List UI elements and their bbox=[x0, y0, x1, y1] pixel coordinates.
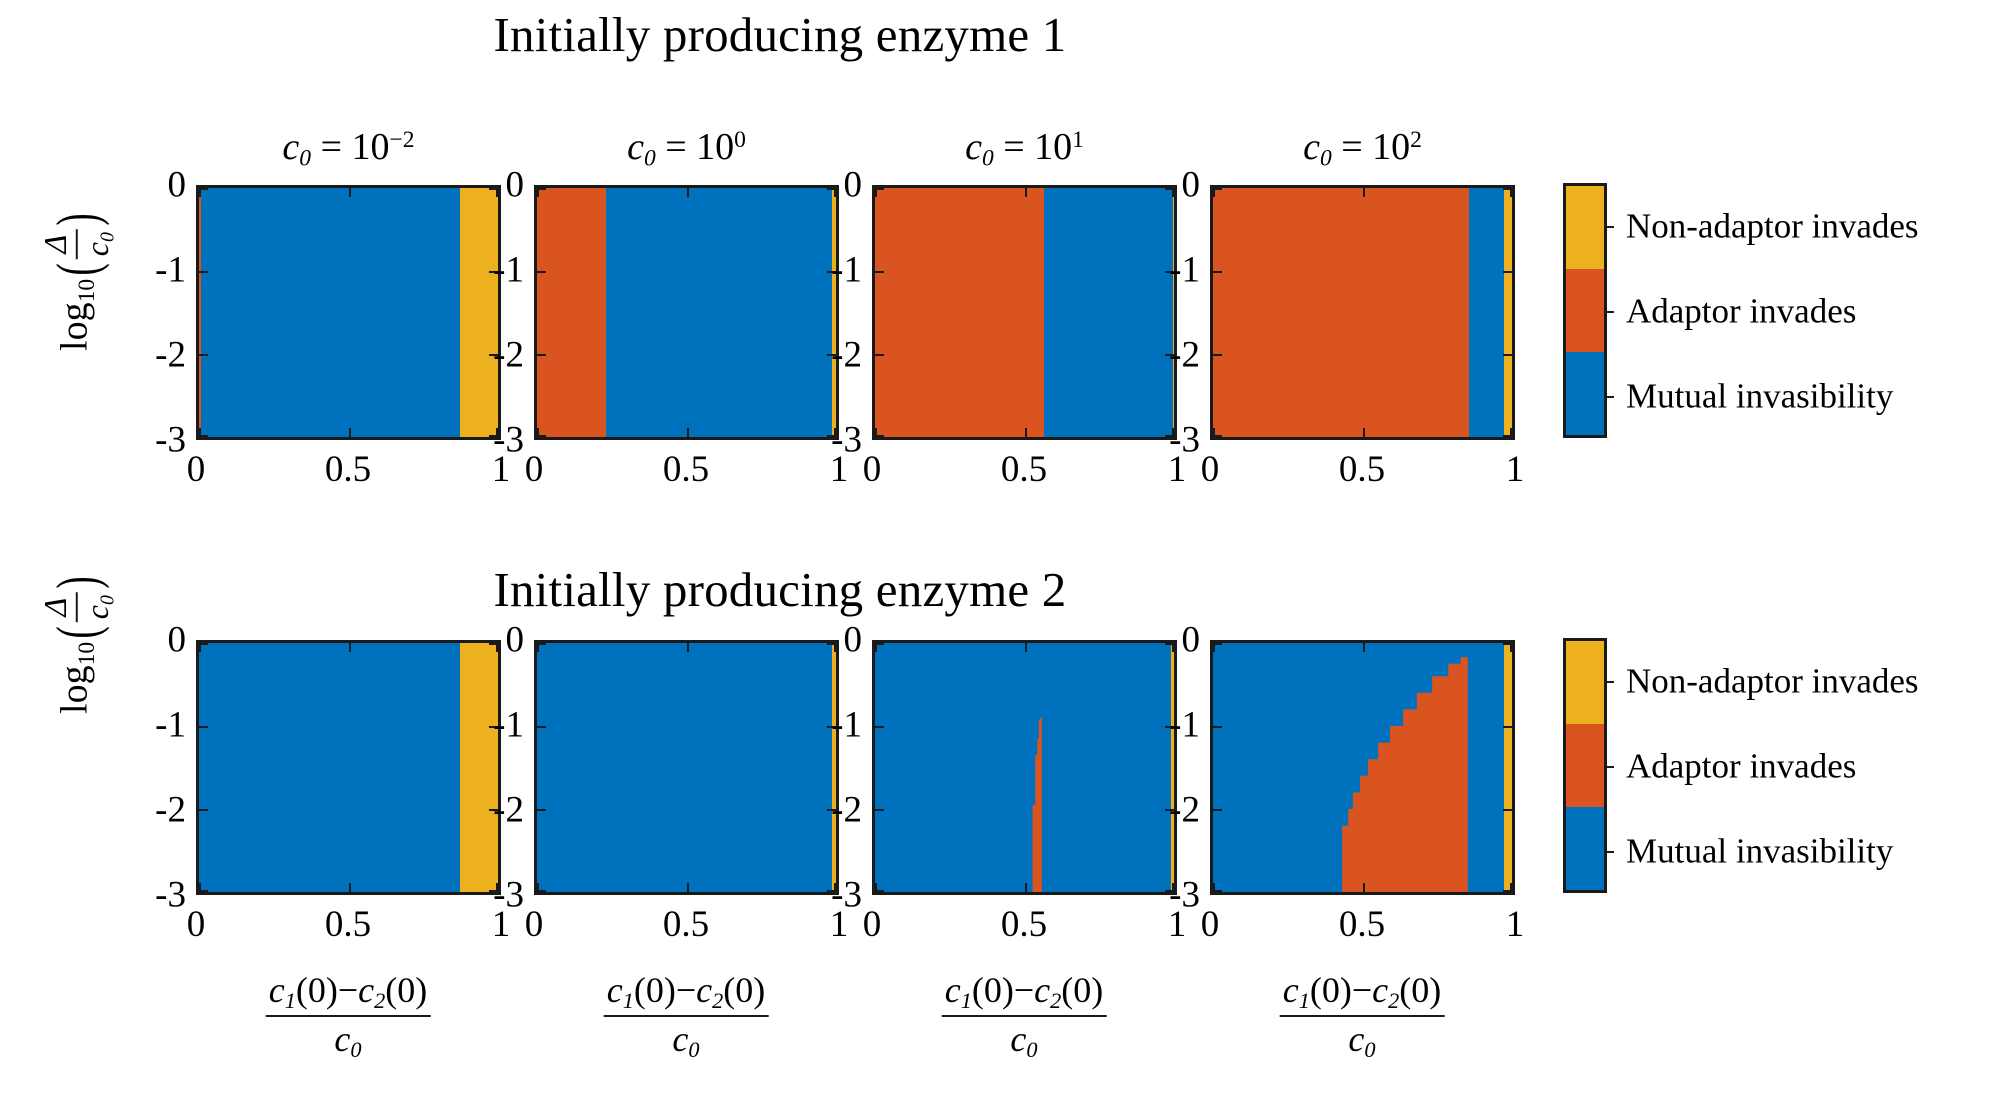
x-tick-label-0: 0 bbox=[1201, 451, 1220, 488]
xlabel-c2-sub: 2 bbox=[1050, 988, 1061, 1013]
y-axis-label-log: log bbox=[54, 302, 96, 351]
panel-title-c: c bbox=[627, 126, 644, 168]
xlabel-zero: 0 bbox=[735, 970, 753, 1010]
x-axis-label-col3: c1(0)−c2(0)c0 bbox=[942, 970, 1107, 1062]
region-non-adaptor-invades bbox=[460, 643, 498, 892]
x-tick-label-1: 1 bbox=[1506, 451, 1525, 488]
panel-row2-col1[interactable]: 0 -1 -2 -3 0 0.5 1 c1(0)−c2(0)c0 bbox=[196, 640, 501, 895]
xlabel-paren-open: ( bbox=[723, 970, 735, 1010]
panel-row1-col2[interactable]: c0 = 100 0 -1 -2 -3 0 0.5 1 bbox=[534, 185, 839, 440]
legend-label-adaptor: Adaptor invades bbox=[1626, 749, 1856, 784]
colorbar-segment-non-adaptor bbox=[1566, 641, 1604, 724]
y-tick-label-0: 0 bbox=[144, 167, 186, 204]
y-tick-label-m1: -1 bbox=[134, 252, 186, 289]
xlabel-c2: c bbox=[1034, 970, 1050, 1010]
y-tick-label-m1: -1 bbox=[1148, 707, 1200, 744]
xlabel-den-sub: 0 bbox=[688, 1037, 699, 1062]
legend-label-adaptor: Adaptor invades bbox=[1626, 294, 1856, 329]
y-axis-label-base: 10 bbox=[74, 279, 100, 303]
x-tick-label-05: 0.5 bbox=[1339, 906, 1385, 943]
xlabel-c1-sub: 1 bbox=[285, 988, 296, 1013]
y-tick-label-m2: -2 bbox=[134, 792, 186, 829]
x-axis-label-col2: c1(0)−c2(0)c0 bbox=[604, 970, 769, 1062]
region-non-adaptor-invades bbox=[832, 643, 836, 892]
x-tick-label-05: 0.5 bbox=[325, 451, 371, 488]
plot-area-row1-col1[interactable] bbox=[196, 185, 501, 440]
xlabel-c1-sub: 1 bbox=[623, 988, 634, 1013]
xlabel-paren-open: ( bbox=[972, 970, 984, 1010]
xlabel-den-sub: 0 bbox=[350, 1037, 361, 1062]
xlabel-den-c: c bbox=[1348, 1019, 1364, 1059]
xlabel-c1: c bbox=[269, 970, 285, 1010]
y-tick-label-m3: -3 bbox=[472, 877, 524, 914]
xlabel-zero: 0 bbox=[646, 970, 664, 1010]
panel-row2-col4[interactable]: 0 -1 -2 -3 0 0.5 1 c1(0)−c2(0)c0 bbox=[1210, 640, 1515, 895]
x-tick-label-05: 0.5 bbox=[1001, 451, 1047, 488]
y-tick-label-0: 0 bbox=[144, 622, 186, 659]
panel-title-c-sub: 0 bbox=[644, 146, 656, 172]
plot-area-row2-col1[interactable] bbox=[196, 640, 501, 895]
x-axis-label-col1: c1(0)−c2(0)c0 bbox=[266, 970, 431, 1062]
plot-area-row2-col2[interactable] bbox=[534, 640, 839, 895]
region-adaptor-invades bbox=[537, 188, 606, 437]
xlabel-c1: c bbox=[945, 970, 961, 1010]
region-non-adaptor-invades bbox=[460, 188, 498, 437]
panel-title-base: 10 bbox=[696, 126, 734, 168]
panel-row2-col2[interactable]: 0 -1 -2 -3 0 0.5 1 c1(0)−c2(0)c0 bbox=[534, 640, 839, 895]
y-tick-label-m1: -1 bbox=[134, 707, 186, 744]
x-axis-label-col4: c1(0)−c2(0)c0 bbox=[1280, 970, 1445, 1062]
region-adaptor-invades-curve bbox=[1213, 643, 1512, 892]
y-tick-label-0: 0 bbox=[820, 622, 862, 659]
panel-title-row1-col3: c0 = 101 bbox=[965, 128, 1084, 171]
y-tick-label-m1: -1 bbox=[810, 252, 862, 289]
region-non-adaptor-invades bbox=[1504, 643, 1512, 892]
panel-title-c-sub: 0 bbox=[299, 146, 311, 172]
x-tick-label-1: 1 bbox=[1506, 906, 1525, 943]
xlabel-c1: c bbox=[607, 970, 623, 1010]
plot-area-row1-col2[interactable] bbox=[534, 185, 839, 440]
panel-title-row1-col2: c0 = 100 bbox=[627, 128, 746, 171]
colorbar-tick bbox=[1604, 681, 1614, 683]
panel-title-base: 10 bbox=[352, 126, 390, 168]
xlabel-zero: 0 bbox=[984, 970, 1002, 1010]
x-tick-label-0: 0 bbox=[863, 906, 882, 943]
xlabel-c2-sub: 2 bbox=[1388, 988, 1399, 1013]
y-tick-label-m2: -2 bbox=[472, 792, 524, 829]
panel-title-eq: = bbox=[321, 126, 342, 168]
panel-title-eq: = bbox=[1341, 126, 1362, 168]
region-mutual-invasibility bbox=[1044, 188, 1173, 437]
colorbar-row-2[interactable] bbox=[1563, 638, 1607, 893]
row-title-enzyme-2: Initially producing enzyme 2 bbox=[0, 565, 1560, 614]
y-tick-label-m1: -1 bbox=[472, 252, 524, 289]
region-adaptor-invades-spike bbox=[875, 643, 1174, 892]
xlabel-paren-open: ( bbox=[1310, 970, 1322, 1010]
colorbar-segment-adaptor bbox=[1566, 269, 1604, 352]
x-tick-label-05: 0.5 bbox=[325, 906, 371, 943]
xlabel-paren-close: ) bbox=[753, 970, 765, 1010]
panel-title-exp: −2 bbox=[390, 127, 415, 153]
colorbar-tick bbox=[1604, 766, 1614, 768]
colorbar-tick bbox=[1604, 311, 1614, 313]
y-axis-label-base: 10 bbox=[74, 642, 100, 666]
y-axis-denominator-sub: 0 bbox=[96, 595, 118, 605]
xlabel-paren-open: ( bbox=[385, 970, 397, 1010]
xlabel-c1-sub: 1 bbox=[961, 988, 972, 1013]
y-tick-label-m1: -1 bbox=[1148, 252, 1200, 289]
region-mutual-invasibility bbox=[1469, 188, 1504, 437]
xlabel-paren-close: ) bbox=[326, 970, 338, 1010]
xlabel-zero: 0 bbox=[397, 970, 415, 1010]
colorbar-tick bbox=[1604, 226, 1614, 228]
xlabel-c2-sub: 2 bbox=[374, 988, 385, 1013]
xlabel-minus: − bbox=[1014, 970, 1034, 1010]
panel-title-c-sub: 0 bbox=[982, 146, 994, 172]
panel-title-c: c bbox=[965, 126, 982, 168]
region-non-adaptor-invades bbox=[1504, 188, 1512, 437]
paren-open-icon: ( bbox=[53, 263, 103, 275]
xlabel-den-c: c bbox=[1010, 1019, 1026, 1059]
xlabel-zero: 0 bbox=[1322, 970, 1340, 1010]
xlabel-c1: c bbox=[1283, 970, 1299, 1010]
y-tick-label-m2: -2 bbox=[810, 792, 862, 829]
panel-title-base: 10 bbox=[1372, 126, 1410, 168]
xlabel-paren-close: ) bbox=[1340, 970, 1352, 1010]
colorbar-tick bbox=[1604, 396, 1614, 398]
y-tick-label-m2: -2 bbox=[1148, 792, 1200, 829]
region-mutual-invasibility bbox=[606, 188, 832, 437]
y-axis-denominator: c bbox=[80, 242, 115, 256]
y-tick-label-0: 0 bbox=[482, 622, 524, 659]
panel-title-row1-col1: c0 = 10−2 bbox=[282, 128, 414, 171]
colorbar-segment-mutual bbox=[1566, 807, 1604, 890]
panel-row1-col3[interactable]: c0 = 101 0 -1 -2 -3 0 0.5 1 bbox=[872, 185, 1177, 440]
panel-title-exp: 1 bbox=[1072, 127, 1084, 153]
x-tick-label-05: 0.5 bbox=[1339, 451, 1385, 488]
x-tick-label-0: 0 bbox=[187, 906, 206, 943]
xlabel-c2: c bbox=[1372, 970, 1388, 1010]
xlabel-paren-open: ( bbox=[634, 970, 646, 1010]
xlabel-paren-close: ) bbox=[1429, 970, 1441, 1010]
panel-row2-col3[interactable]: 0 -1 -2 -3 0 0.5 1 c1(0)−c2(0)c0 bbox=[872, 640, 1177, 895]
y-axis-numerator: Δ bbox=[38, 235, 73, 254]
xlabel-paren-close: ) bbox=[1091, 970, 1103, 1010]
panel-title-c-sub: 0 bbox=[1320, 146, 1332, 172]
xlabel-minus: − bbox=[1352, 970, 1372, 1010]
region-adaptor-invades bbox=[1213, 188, 1469, 437]
x-tick-label-0: 0 bbox=[863, 451, 882, 488]
panel-title-c: c bbox=[282, 126, 299, 168]
xlabel-paren-open: ( bbox=[1061, 970, 1073, 1010]
xlabel-paren-open: ( bbox=[296, 970, 308, 1010]
xlabel-paren-open: ( bbox=[1399, 970, 1411, 1010]
y-tick-label-m3: -3 bbox=[134, 422, 186, 459]
region-mutual-invasibility bbox=[537, 643, 832, 892]
xlabel-paren-close: ) bbox=[1002, 970, 1014, 1010]
y-tick-label-m3: -3 bbox=[1148, 422, 1200, 459]
region-non-adaptor-invades bbox=[1171, 643, 1174, 892]
y-axis-label-row-1: log10(Δc0) bbox=[38, 140, 118, 420]
panel-title-c: c bbox=[1303, 126, 1320, 168]
y-axis-denominator-sub: 0 bbox=[96, 232, 118, 242]
panel-title-exp: 2 bbox=[1410, 127, 1422, 153]
colorbar-row-1[interactable] bbox=[1563, 183, 1607, 438]
xlabel-minus: − bbox=[338, 970, 358, 1010]
y-tick-label-m1: -1 bbox=[810, 707, 862, 744]
y-tick-label-m3: -3 bbox=[810, 877, 862, 914]
x-tick-label-05: 0.5 bbox=[1001, 906, 1047, 943]
panel-title-eq: = bbox=[665, 126, 686, 168]
panel-title-base: 10 bbox=[1034, 126, 1072, 168]
legend-label-mutual: Mutual invasibility bbox=[1626, 834, 1893, 869]
x-tick-label-0: 0 bbox=[187, 451, 206, 488]
y-tick-label-m2: -2 bbox=[1148, 337, 1200, 374]
xlabel-paren-close: ) bbox=[415, 970, 427, 1010]
legend-label-non-adaptor: Non-adaptor invades bbox=[1626, 664, 1919, 699]
xlabel-zero: 0 bbox=[308, 970, 326, 1010]
x-tick-label-05: 0.5 bbox=[663, 451, 709, 488]
y-tick-label-m3: -3 bbox=[472, 422, 524, 459]
xlabel-c2-sub: 2 bbox=[712, 988, 723, 1013]
colorbar-segment-mutual bbox=[1566, 352, 1604, 435]
plot-area-row2-col4[interactable] bbox=[1210, 640, 1515, 895]
region-mutual-invasibility bbox=[199, 643, 460, 892]
y-axis-numerator: Δ bbox=[38, 598, 73, 617]
y-tick-label-m2: -2 bbox=[134, 337, 186, 374]
panel-title-row1-col4: c0 = 102 bbox=[1303, 128, 1422, 171]
x-tick-label-0: 0 bbox=[1201, 906, 1220, 943]
y-axis-label-log: log bbox=[54, 665, 96, 714]
y-tick-label-m3: -3 bbox=[810, 422, 862, 459]
y-tick-label-m2: -2 bbox=[472, 337, 524, 374]
row-title-enzyme-1: Initially producing enzyme 1 bbox=[0, 10, 1560, 59]
xlabel-c2: c bbox=[696, 970, 712, 1010]
legend-label-non-adaptor: Non-adaptor invades bbox=[1626, 209, 1919, 244]
colorbar-segment-non-adaptor bbox=[1566, 186, 1604, 269]
y-tick-label-0: 0 bbox=[1158, 167, 1200, 204]
legend-label-mutual: Mutual invasibility bbox=[1626, 379, 1893, 414]
x-tick-label-05: 0.5 bbox=[663, 906, 709, 943]
plot-area-row2-col3[interactable] bbox=[872, 640, 1177, 895]
panel-row1-col1[interactable]: c0 = 10−2 0 -1 -2 -3 0 0.5 1 bbox=[196, 185, 501, 440]
panel-title-exp: 0 bbox=[734, 127, 746, 153]
y-tick-label-m2: -2 bbox=[810, 337, 862, 374]
y-tick-label-m3: -3 bbox=[1148, 877, 1200, 914]
figure-root: Initially producing enzyme 1 Initially p… bbox=[0, 0, 1995, 1098]
colorbar-tick bbox=[1604, 851, 1614, 853]
y-tick-label-0: 0 bbox=[820, 167, 862, 204]
plot-area-row1-col4[interactable] bbox=[1210, 185, 1515, 440]
xlabel-den-sub: 0 bbox=[1026, 1037, 1037, 1062]
xlabel-c1-sub: 1 bbox=[1299, 988, 1310, 1013]
plot-area-row1-col3[interactable] bbox=[872, 185, 1177, 440]
panel-row1-col4[interactable]: c0 = 102 0 -1 -2 -3 0 0.5 1 bbox=[1210, 185, 1515, 440]
y-tick-label-0: 0 bbox=[1158, 622, 1200, 659]
y-axis-label-row-2: log10(Δc0) bbox=[38, 503, 118, 783]
xlabel-den-c: c bbox=[672, 1019, 688, 1059]
xlabel-den-sub: 0 bbox=[1364, 1037, 1375, 1062]
region-non-adaptor-invades bbox=[1173, 188, 1174, 437]
region-mutual-invasibility bbox=[201, 188, 459, 437]
colorbar-segment-adaptor bbox=[1566, 724, 1604, 807]
xlabel-paren-close: ) bbox=[664, 970, 676, 1010]
panel-title-eq: = bbox=[1003, 126, 1024, 168]
y-tick-label-0: 0 bbox=[482, 167, 524, 204]
xlabel-minus: − bbox=[676, 970, 696, 1010]
y-tick-label-m3: -3 bbox=[134, 877, 186, 914]
paren-close-icon: ) bbox=[53, 213, 103, 225]
y-tick-label-m1: -1 bbox=[472, 707, 524, 744]
xlabel-zero: 0 bbox=[1411, 970, 1429, 1010]
paren-open-icon: ( bbox=[53, 626, 103, 638]
region-adaptor-invades bbox=[875, 188, 1044, 437]
xlabel-zero: 0 bbox=[1073, 970, 1091, 1010]
x-tick-label-0: 0 bbox=[525, 451, 544, 488]
region-non-adaptor-invades bbox=[832, 188, 836, 437]
xlabel-c2: c bbox=[358, 970, 374, 1010]
x-tick-label-0: 0 bbox=[525, 906, 544, 943]
y-axis-denominator: c bbox=[80, 605, 115, 619]
xlabel-den-c: c bbox=[334, 1019, 350, 1059]
paren-close-icon: ) bbox=[53, 576, 103, 588]
